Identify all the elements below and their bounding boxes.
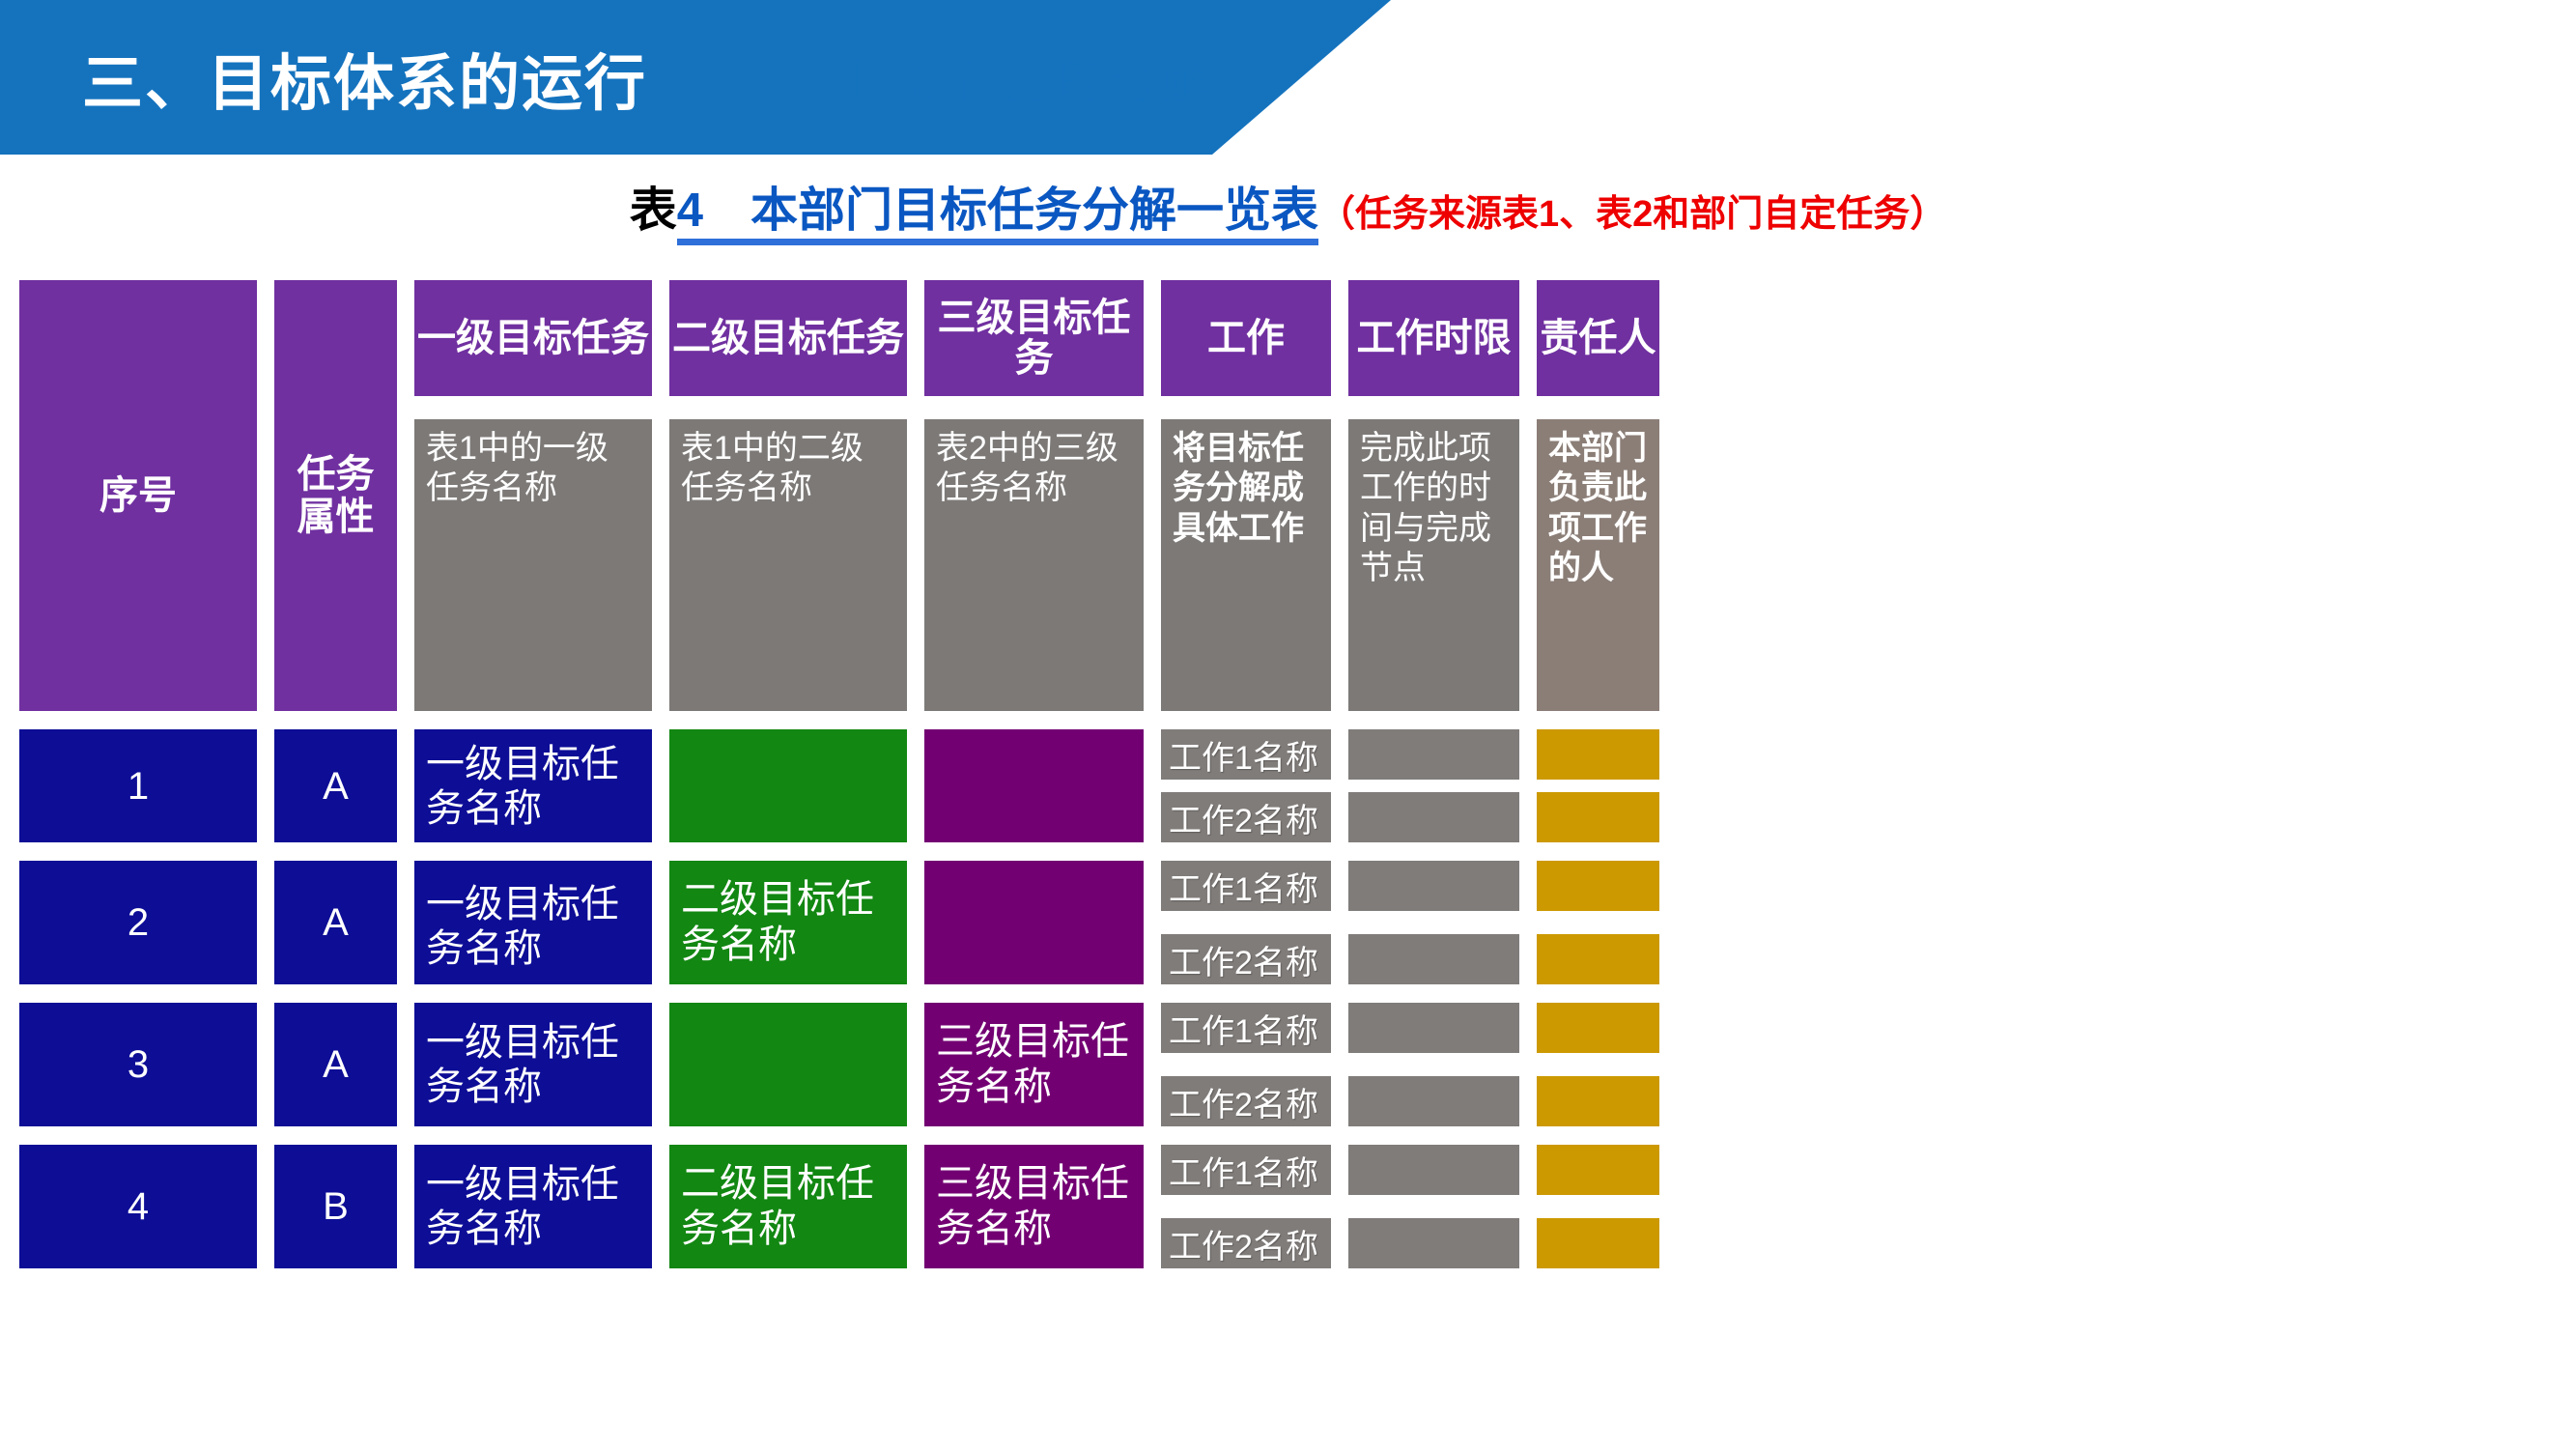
cell-responsible <box>1537 861 1659 911</box>
cell-deadline <box>1348 934 1519 984</box>
cell-deadline <box>1348 1218 1519 1268</box>
cell-responsible <box>1537 792 1659 842</box>
task-breakdown-table: 序号 任务 属性 一级目标任务 表1中的一级任务名称 二级目标任务 表1中的二级… <box>19 280 2560 1268</box>
table-title: 表4 本部门目标任务分解一览表（任务来源表1、表2和部门自定任务） <box>0 172 2576 241</box>
table-row[interactable]: 4 B 一级目标任务名称 二级目标任务名称 三级目标任务名称 工作1名称 工作2… <box>19 1145 2560 1268</box>
cell-deadline <box>1348 1076 1519 1126</box>
cell-no: 3 <box>19 1003 257 1126</box>
header-gap <box>669 396 924 419</box>
cell-level3: 三级目标任务名称 <box>924 1003 1144 1126</box>
cell-work: 工作1名称 <box>1161 729 1331 780</box>
cell-responsible <box>1537 729 1659 780</box>
header-col-work: 工作 将目标任务分解成具体工作 <box>1161 280 1348 711</box>
header-gap <box>924 396 1161 419</box>
header-col-responsible: 责任人 本部门负责此项工作的人 <box>1537 280 1677 711</box>
cell-deadline <box>1348 1003 1519 1053</box>
cell-level2: 二级目标任务名称 <box>669 861 907 984</box>
header-col-level1: 一级目标任务 表1中的一级任务名称 <box>414 280 669 711</box>
cell-work: 工作2名称 <box>1161 792 1331 842</box>
header-desc-deadline: 完成此项工作的时间与完成节点 <box>1348 419 1519 711</box>
cell-level1: 一级目标任务名称 <box>414 861 652 984</box>
header-desc-responsible: 本部门负责此项工作的人 <box>1537 419 1659 711</box>
cell-no: 2 <box>19 861 257 984</box>
cell-level3 <box>924 729 1144 842</box>
cell-no: 4 <box>19 1145 257 1268</box>
cell-level1: 一级目标任务名称 <box>414 1145 652 1268</box>
header-col-deadline: 工作时限 完成此项工作的时间与完成节点 <box>1348 280 1537 711</box>
header-col-attr: 任务 属性 <box>274 280 414 711</box>
cell-level2 <box>669 1003 907 1126</box>
header-label-attr: 任务 属性 <box>274 280 397 711</box>
cell-attr: A <box>274 861 397 984</box>
cell-responsible <box>1537 1218 1659 1268</box>
header-gap <box>1348 396 1537 419</box>
cell-responsible <box>1537 934 1659 984</box>
header-desc-level3: 表2中的三级任务名称 <box>924 419 1144 711</box>
cell-deadline <box>1348 1145 1519 1195</box>
cell-work: 工作1名称 <box>1161 1145 1331 1195</box>
cell-work: 工作1名称 <box>1161 1003 1331 1053</box>
header-label-level2: 二级目标任务 <box>669 280 907 396</box>
cell-attr: B <box>274 1145 397 1268</box>
header-label-level1: 一级目标任务 <box>414 280 652 396</box>
cell-attr: A <box>274 729 397 842</box>
cell-attr: A <box>274 1003 397 1126</box>
cell-level3 <box>924 861 1144 984</box>
header-desc-work: 将目标任务分解成具体工作 <box>1161 419 1331 711</box>
header-col-level2: 二级目标任务 表1中的二级任务名称 <box>669 280 924 711</box>
table-title-prefix: 表 <box>630 185 677 237</box>
cell-level1: 一级目标任务名称 <box>414 1003 652 1126</box>
cell-level2: 二级目标任务名称 <box>669 1145 907 1268</box>
cell-work: 工作1名称 <box>1161 861 1331 911</box>
header-col-no: 序号 <box>19 280 274 711</box>
cell-work: 工作2名称 <box>1161 1218 1331 1268</box>
cell-responsible <box>1537 1145 1659 1195</box>
table-row[interactable]: 3 A 一级目标任务名称 三级目标任务名称 工作1名称 工作2名称 <box>19 1003 2560 1126</box>
table-title-note: （任务来源表1、表2和部门自定任务） <box>1318 194 1946 235</box>
cell-level1: 一级目标任务名称 <box>414 729 652 842</box>
cell-deadline <box>1348 792 1519 842</box>
table-header-row: 序号 任务 属性 一级目标任务 表1中的一级任务名称 二级目标任务 表1中的二级… <box>19 280 2560 711</box>
table-row[interactable]: 2 A 一级目标任务名称 二级目标任务名称 工作1名称 工作2名称 <box>19 861 2560 984</box>
cell-responsible <box>1537 1076 1659 1126</box>
cell-no: 1 <box>19 729 257 842</box>
subsection-title: 2. 目标任务的分解 <box>787 43 1214 111</box>
header-label-no: 序号 <box>19 280 257 711</box>
cell-deadline <box>1348 861 1519 911</box>
cell-deadline <box>1348 729 1519 780</box>
header-label-level3: 三级目标任务 <box>924 280 1144 396</box>
table-row[interactable]: 1 A 一级目标任务名称 工作1名称 工作2名称 <box>19 729 2560 842</box>
header-label-responsible: 责任人 <box>1537 280 1659 396</box>
header-gap <box>1161 396 1348 419</box>
cell-responsible <box>1537 1003 1659 1053</box>
header-label-deadline: 工作时限 <box>1348 280 1519 396</box>
cell-work: 工作2名称 <box>1161 934 1331 984</box>
header-col-level3: 三级目标任务 表2中的三级任务名称 <box>924 280 1161 711</box>
cell-level2 <box>669 729 907 842</box>
header-gap <box>414 396 669 419</box>
cell-work: 工作2名称 <box>1161 1076 1331 1126</box>
header-desc-level1: 表1中的一级任务名称 <box>414 419 652 711</box>
section-title: 三、目标体系的运行 <box>82 35 647 123</box>
header-desc-level2: 表1中的二级任务名称 <box>669 419 907 711</box>
table-title-main: 4 本部门目标任务分解一览表 <box>677 185 1318 245</box>
header-label-work: 工作 <box>1161 280 1331 396</box>
cell-level3: 三级目标任务名称 <box>924 1145 1144 1268</box>
header-gap <box>1537 396 1677 419</box>
